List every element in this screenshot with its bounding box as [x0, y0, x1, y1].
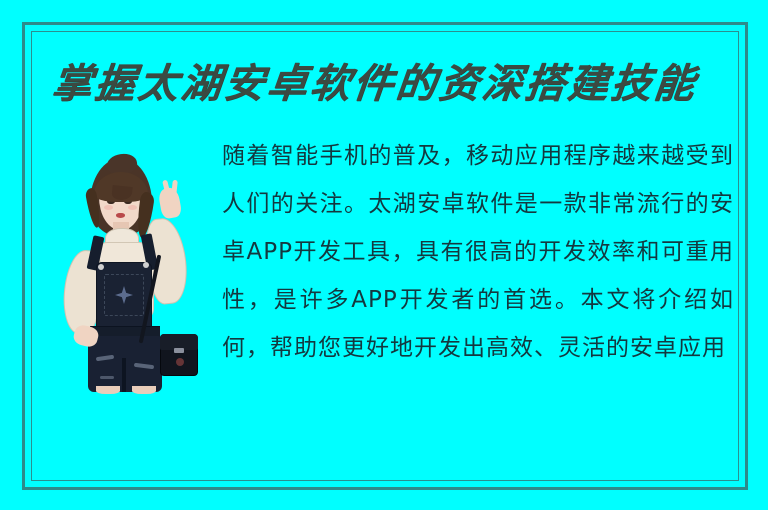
article-body-text: 随着智能手机的普及，移动应用程序越来越受到人们的关注。太湖安卓软件是一款非常流行… — [222, 132, 734, 422]
bag-logo — [176, 358, 184, 366]
right-blush — [128, 205, 137, 210]
bag-buckle — [174, 348, 184, 353]
denim-rip-three — [100, 376, 114, 379]
overall-button-left — [98, 264, 104, 270]
article-title: 掌握太湖安卓软件的资深搭建技能 — [49, 56, 715, 112]
left-blush — [104, 205, 113, 210]
illustration-young-woman — [52, 158, 208, 392]
mouth — [116, 213, 125, 218]
left-thigh — [96, 386, 120, 394]
shorts-inseam — [122, 358, 126, 392]
overall-button-right — [143, 262, 149, 268]
poster-canvas: 掌握太湖安卓软件的资深搭建技能 随着智能手机的普及，移动应用程序越来越受到人们的… — [0, 0, 768, 510]
right-thigh — [132, 386, 156, 394]
